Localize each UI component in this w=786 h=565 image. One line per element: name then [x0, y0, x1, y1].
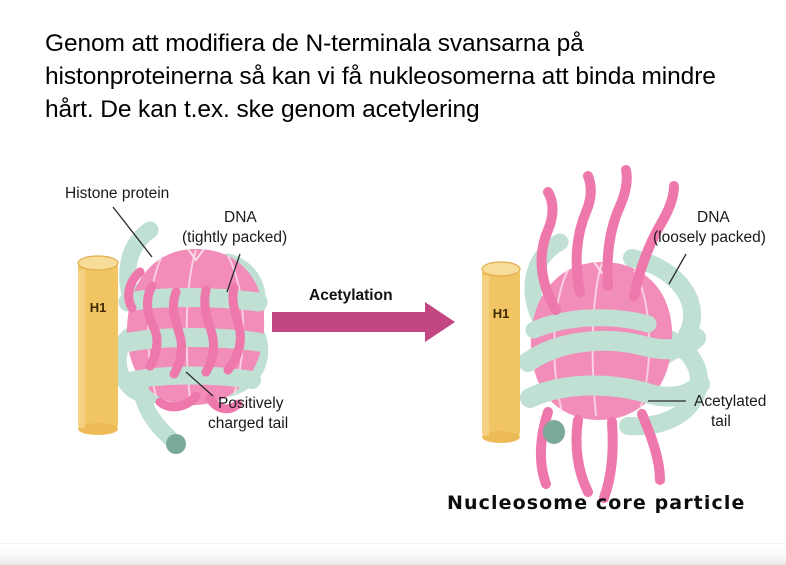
right-nucleosome-group: H1 DNA (loosely packed) Acetylated tail [482, 170, 766, 498]
left-dna-end-cap [166, 434, 186, 454]
right-tail-label-line2: tail [711, 413, 731, 430]
left-tail-label-line2: charged tail [208, 415, 288, 432]
figure-caption: Nucleosome core particle [447, 492, 745, 514]
acetylation-arrow-group: Acetylation [272, 287, 455, 342]
left-nucleosome-group: H1 Histone protein DNA (tightly packed) … [65, 185, 288, 454]
nucleosome-acetylation-diagram: H1 Histone protein DNA (tightly packed) … [0, 150, 786, 550]
right-h1-cylinder: H1 [482, 262, 520, 443]
left-dna-label-line2: (tightly packed) [182, 229, 287, 246]
right-dna-label-line1: DNA [697, 209, 730, 226]
slide-bottom-edge [0, 543, 786, 565]
right-dna-end-cap [543, 420, 565, 444]
right-dna-label-line2: (loosely packed) [653, 229, 766, 246]
right-tail-label-line1: Acetylated [694, 393, 766, 410]
right-h1-label: H1 [493, 306, 510, 321]
page-title: Genom att modifiera de N-terminala svans… [45, 27, 745, 126]
left-dna-label-line1: DNA [224, 209, 257, 226]
acetylation-arrow-icon [272, 302, 455, 342]
acetylation-arrow-label: Acetylation [309, 287, 393, 304]
slide-canvas: Genom att modifiera de N-terminala svans… [0, 0, 786, 564]
left-histone-protein-label: Histone protein [65, 185, 169, 202]
left-h1-label: H1 [90, 300, 107, 315]
left-h1-cylinder: H1 [78, 256, 118, 435]
left-tail-label-line1: Positively [218, 395, 284, 412]
